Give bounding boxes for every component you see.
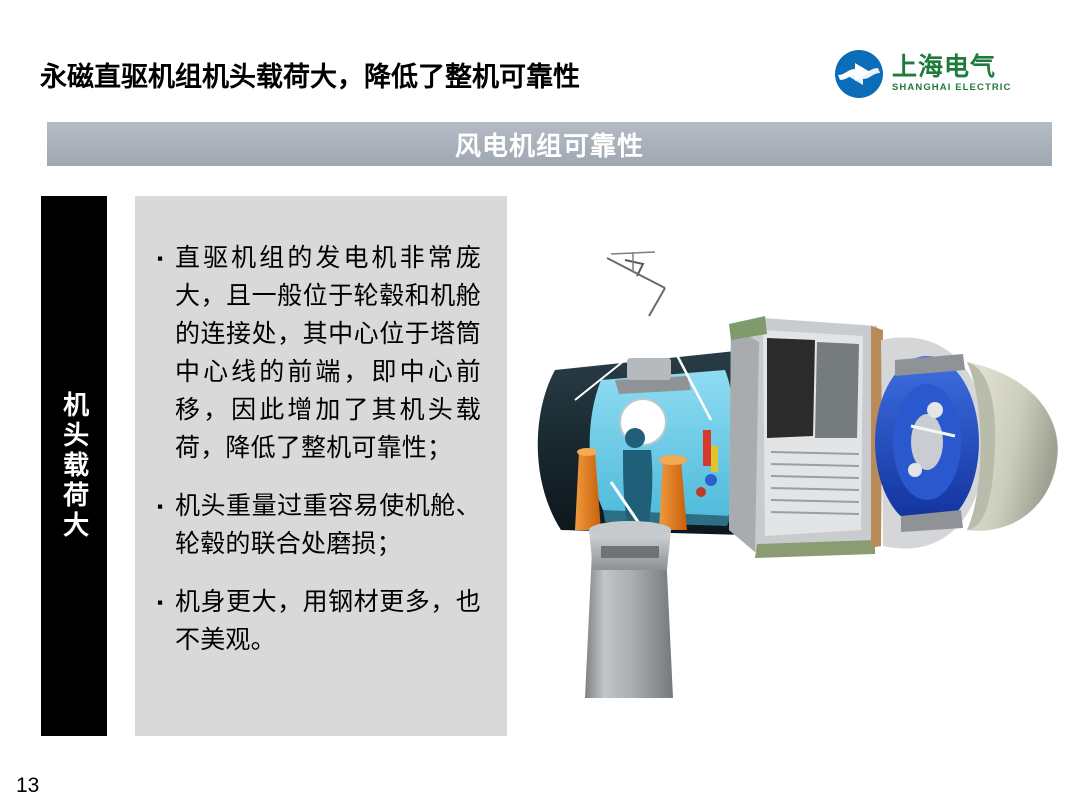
bullet-panel: ▪ 直驱机组的发电机非常庞大，且一般位于轮毂和机舱的连接处，其中心位于塔筒中心线…: [135, 196, 507, 736]
page-number: 13: [16, 774, 39, 798]
slide: 永磁直驱机组机头载荷大，降低了整机可靠性 上海电气 SHANGHAI ELECT…: [0, 0, 1080, 810]
page-title: 永磁直驱机组机头载荷大，降低了整机可靠性: [40, 55, 580, 94]
logo-name-en: SHANGHAI ELECTRIC: [892, 83, 1012, 93]
shanghai-electric-mark-icon: [834, 49, 884, 99]
logo-text: 上海电气 SHANGHAI ELECTRIC: [892, 55, 1012, 93]
bullet-marker-icon: ▪: [157, 488, 175, 526]
bullet-marker-icon: ▪: [157, 240, 175, 278]
bullet-marker-icon: ▪: [157, 584, 175, 622]
nacelle-cutaway-illustration: [515, 230, 1075, 710]
bullet-text: 机身更大，用钢材更多，也不美观。: [175, 584, 481, 660]
side-tab-label: 机头载荷大: [57, 391, 90, 541]
list-item: ▪ 直驱机组的发电机非常庞大，且一般位于轮毂和机舱的连接处，其中心位于塔筒中心线…: [157, 240, 481, 468]
section-band: 风电机组可靠性: [47, 122, 1052, 166]
company-logo: 上海电气 SHANGHAI ELECTRIC: [834, 48, 1052, 100]
list-item: ▪ 机头重量过重容易使机舱、轮毂的联合处磨损；: [157, 488, 481, 564]
list-item: ▪ 机身更大，用钢材更多，也不美观。: [157, 584, 481, 660]
side-tab: 机头载荷大: [41, 196, 107, 736]
section-band-label: 风电机组可靠性: [455, 126, 644, 163]
bullet-text: 直驱机组的发电机非常庞大，且一般位于轮毂和机舱的连接处，其中心位于塔筒中心线的前…: [175, 240, 481, 468]
logo-name-cn: 上海电气: [892, 55, 1012, 80]
bullet-text: 机头重量过重容易使机舱、轮毂的联合处磨损；: [175, 488, 481, 564]
